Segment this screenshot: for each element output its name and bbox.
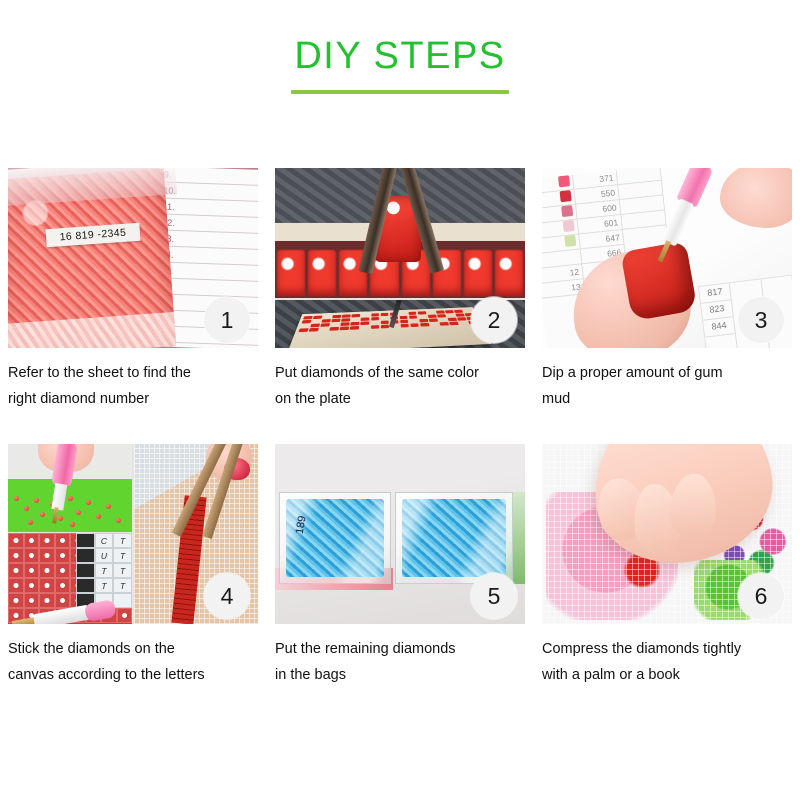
plastic-sheen (280, 493, 390, 583)
step-badge-5: 5 (471, 573, 517, 619)
tray-diamond (418, 315, 427, 318)
sheet-cell (621, 210, 665, 229)
tray-diamond (351, 318, 360, 321)
tray-diamond (298, 328, 308, 331)
color-chip (558, 175, 570, 187)
diamond (96, 514, 101, 519)
diamond (28, 520, 33, 525)
tray-diamond (352, 314, 360, 317)
color-chip (560, 190, 572, 202)
canvas-cell (8, 563, 24, 578)
tray-diamond (322, 319, 331, 322)
tray-diamond (371, 321, 379, 324)
diamond (70, 522, 75, 527)
canvas-cell (55, 548, 71, 563)
letter-cell: U (95, 548, 114, 563)
canvas-cell (24, 563, 40, 578)
tray-diamond (438, 318, 447, 321)
tray-diamond (410, 323, 419, 326)
page-header: DIY STEPS (0, 34, 800, 94)
diamond (40, 512, 45, 517)
sheet-cell: 844 (703, 317, 735, 338)
tray-diamond (313, 316, 322, 319)
step-card-3: 12 13 371 550 600 601 647 666 702 704 (542, 168, 792, 412)
canvas-cell (8, 533, 24, 548)
tray-diamond (463, 309, 472, 312)
letter-cell: T (113, 548, 132, 563)
canvas-cell (8, 578, 24, 593)
letter-cell (113, 593, 132, 608)
canvas-cell (55, 533, 71, 548)
green-tray-subphoto (8, 444, 132, 532)
scattered-diamonds (10, 492, 130, 528)
tray-diamond (300, 324, 310, 327)
tray-diamond (400, 320, 409, 323)
tray-diamond (380, 313, 388, 316)
title-underline-rule (291, 90, 509, 94)
tray-diamond (303, 316, 312, 319)
step-caption-5: Put the remaining diamonds in the bags (275, 636, 525, 688)
diamond (86, 500, 91, 505)
step-card-2: 2 Put diamonds of the same color on the … (275, 168, 525, 412)
tray-diamond (457, 317, 466, 320)
diy-steps-page: DIY STEPS 9. 10. 11. 12. 13. 14. 15. 16. (0, 0, 800, 800)
tray-diamond (331, 323, 340, 326)
diamond (106, 504, 111, 509)
letter-cell (76, 548, 95, 563)
canvas-cell (39, 533, 55, 548)
tray-diamond (371, 313, 379, 316)
canvas-cell (24, 533, 40, 548)
caption-line: on the plate (275, 386, 525, 412)
tray-diamond (436, 310, 445, 313)
tray-diamond (445, 310, 454, 313)
step-caption-1: Refer to the sheet to find the right dia… (8, 360, 258, 412)
diamond-bag (395, 492, 513, 584)
tray-diamond (340, 326, 349, 329)
caption-line: right diamond number (8, 386, 258, 412)
letter-cell: C (95, 533, 114, 548)
tray-diamond (330, 327, 339, 330)
canvas-cell (55, 563, 71, 578)
step-card-5: 189 5 Put the remaining diamonds in the … (275, 444, 525, 688)
step-photo-5: 189 5 (275, 444, 525, 624)
tray-diamond (302, 320, 311, 323)
letter-cell: T (95, 563, 114, 578)
tray-diamond (430, 322, 439, 325)
step-caption-4: Stick the diamonds on the canvas accordi… (8, 636, 258, 688)
canvas-cell (8, 593, 24, 608)
canvas-cell (39, 578, 55, 593)
step-photo-4: C T U T T T T T (8, 444, 258, 624)
tray-diamond (310, 324, 319, 327)
page-title: DIY STEPS (0, 34, 800, 78)
pen-tip (658, 240, 672, 262)
step-caption-3: Dip a proper amount of gum mud (542, 360, 792, 412)
letter-cell: T (113, 533, 132, 548)
tray-diamond (456, 313, 465, 316)
canvas-cell (55, 578, 71, 593)
tray-diamond (449, 322, 458, 325)
tray-diamond (448, 318, 457, 321)
letter-cell (76, 563, 95, 578)
diamond (76, 510, 81, 515)
step-badge-1: 1 (204, 297, 250, 343)
diamond (116, 518, 121, 523)
tray-diamond (428, 315, 437, 318)
canvas-cell (24, 593, 40, 608)
caption-line: mud (542, 386, 792, 412)
letter-cell: T (113, 563, 132, 578)
diamond (34, 498, 39, 503)
tray-diamond (410, 319, 419, 322)
canvas-cell (8, 548, 24, 563)
canvas-cell (24, 578, 40, 593)
caption-line: with a palm or a book (542, 662, 792, 688)
caption-line: Put the remaining diamonds (275, 636, 525, 662)
diamond (24, 506, 29, 511)
color-chip (564, 235, 576, 247)
step-photo-2: 2 (275, 168, 525, 348)
canvas-cell (39, 548, 55, 563)
plastic-sheen (396, 493, 512, 583)
tray-diamond (400, 324, 409, 327)
tray-diamond (361, 314, 369, 317)
tweezers-closeup-subphoto (275, 168, 525, 298)
tray-diamond (420, 323, 429, 326)
tray-diamond (429, 318, 438, 321)
step-card-4: C T U T T T T T (8, 444, 258, 688)
letter-chart-subphoto: C T U T T T T T (8, 533, 132, 624)
tray-diamond (427, 311, 436, 314)
tray-diamond (419, 319, 428, 322)
caption-line: in the bags (275, 662, 525, 688)
step-badge-3: 3 (738, 297, 784, 343)
tray-diamond (323, 315, 332, 318)
step-caption-2: Put diamonds of the same color on the pl… (275, 360, 525, 412)
sorting-tray (287, 307, 492, 348)
caption-line: Refer to the sheet to find the (8, 360, 258, 386)
diamond (464, 250, 492, 296)
tray-diamond (399, 312, 407, 315)
tray-diamond (360, 326, 369, 329)
tray-diamond (350, 326, 359, 329)
diamond (277, 250, 305, 296)
letter-cell (76, 533, 95, 548)
step-card-6: 6 Compress the diamonds tightly with a p… (542, 444, 792, 688)
diamond (308, 250, 336, 296)
tray-diamond (309, 328, 319, 331)
canvas-cell (55, 593, 71, 608)
tray-diamond (418, 311, 426, 314)
caption-line: canvas according to the letters (8, 662, 258, 688)
step-caption-6: Compress the diamonds tightly with a pal… (542, 636, 792, 688)
tray-diamond (446, 314, 455, 317)
tray-diamond (380, 317, 388, 320)
letter-cell: T (95, 578, 114, 593)
diamond-bag: 189 (279, 492, 391, 584)
tray-diamond (409, 315, 418, 318)
color-chip (561, 205, 573, 217)
color-chip (563, 220, 575, 232)
tray-diamond (371, 325, 380, 328)
step-badge-6: 6 (738, 573, 784, 619)
left-subphotos: C T U T T T T T (8, 444, 132, 624)
tray-diamond (332, 315, 341, 318)
tray-diamond (371, 317, 379, 320)
tray-diamond (408, 312, 416, 315)
step-badge-4: 4 (204, 573, 250, 619)
diamond (495, 250, 523, 296)
caption-line: Compress the diamonds tightly (542, 636, 792, 662)
tray-diamond (459, 321, 468, 324)
caption-line: Stick the diamonds on the (8, 636, 258, 662)
tray-diamond (361, 321, 370, 324)
tray-diamond-grid (298, 309, 477, 331)
tray-diamond (361, 317, 369, 320)
canvas-cell (39, 593, 55, 608)
tray-diamond (400, 316, 408, 319)
tray-diamond (342, 314, 351, 317)
pen-tip (52, 507, 58, 523)
tray-diamond (341, 318, 350, 321)
tray-diamond (341, 322, 350, 325)
step-badge-2: 2 (471, 297, 517, 343)
step-photo-3: 12 13 371 550 600 601 647 666 702 704 (542, 168, 792, 348)
letter-cell: T (113, 578, 132, 593)
canvas-cell (39, 563, 55, 578)
tray-diamond (320, 323, 329, 326)
step-photo-6: 6 (542, 444, 792, 624)
caption-line: Put diamonds of the same color (275, 360, 525, 386)
steps-grid: 9. 10. 11. 12. 13. 14. 15. 16. 17. 18. 1… (8, 168, 792, 688)
tray-diamond (312, 319, 321, 322)
step-card-1: 9. 10. 11. 12. 13. 14. 15. 16. 17. 18. 1… (8, 168, 258, 412)
tray-diamond (319, 327, 329, 330)
canvas-cell (24, 548, 40, 563)
pen-cap (84, 599, 117, 622)
tray-diamond (454, 310, 463, 313)
tray-diamond (440, 322, 449, 325)
caption-line: Dip a proper amount of gum (542, 360, 792, 386)
tray-diamond (332, 319, 341, 322)
tray-diamond (437, 314, 446, 317)
diamond (14, 496, 19, 501)
tray-diamond (351, 322, 360, 325)
tray-diamond (381, 321, 389, 324)
letter-cell (76, 578, 95, 593)
step-photo-1: 9. 10. 11. 12. 13. 14. 15. 16. 17. 18. 1… (8, 168, 258, 348)
